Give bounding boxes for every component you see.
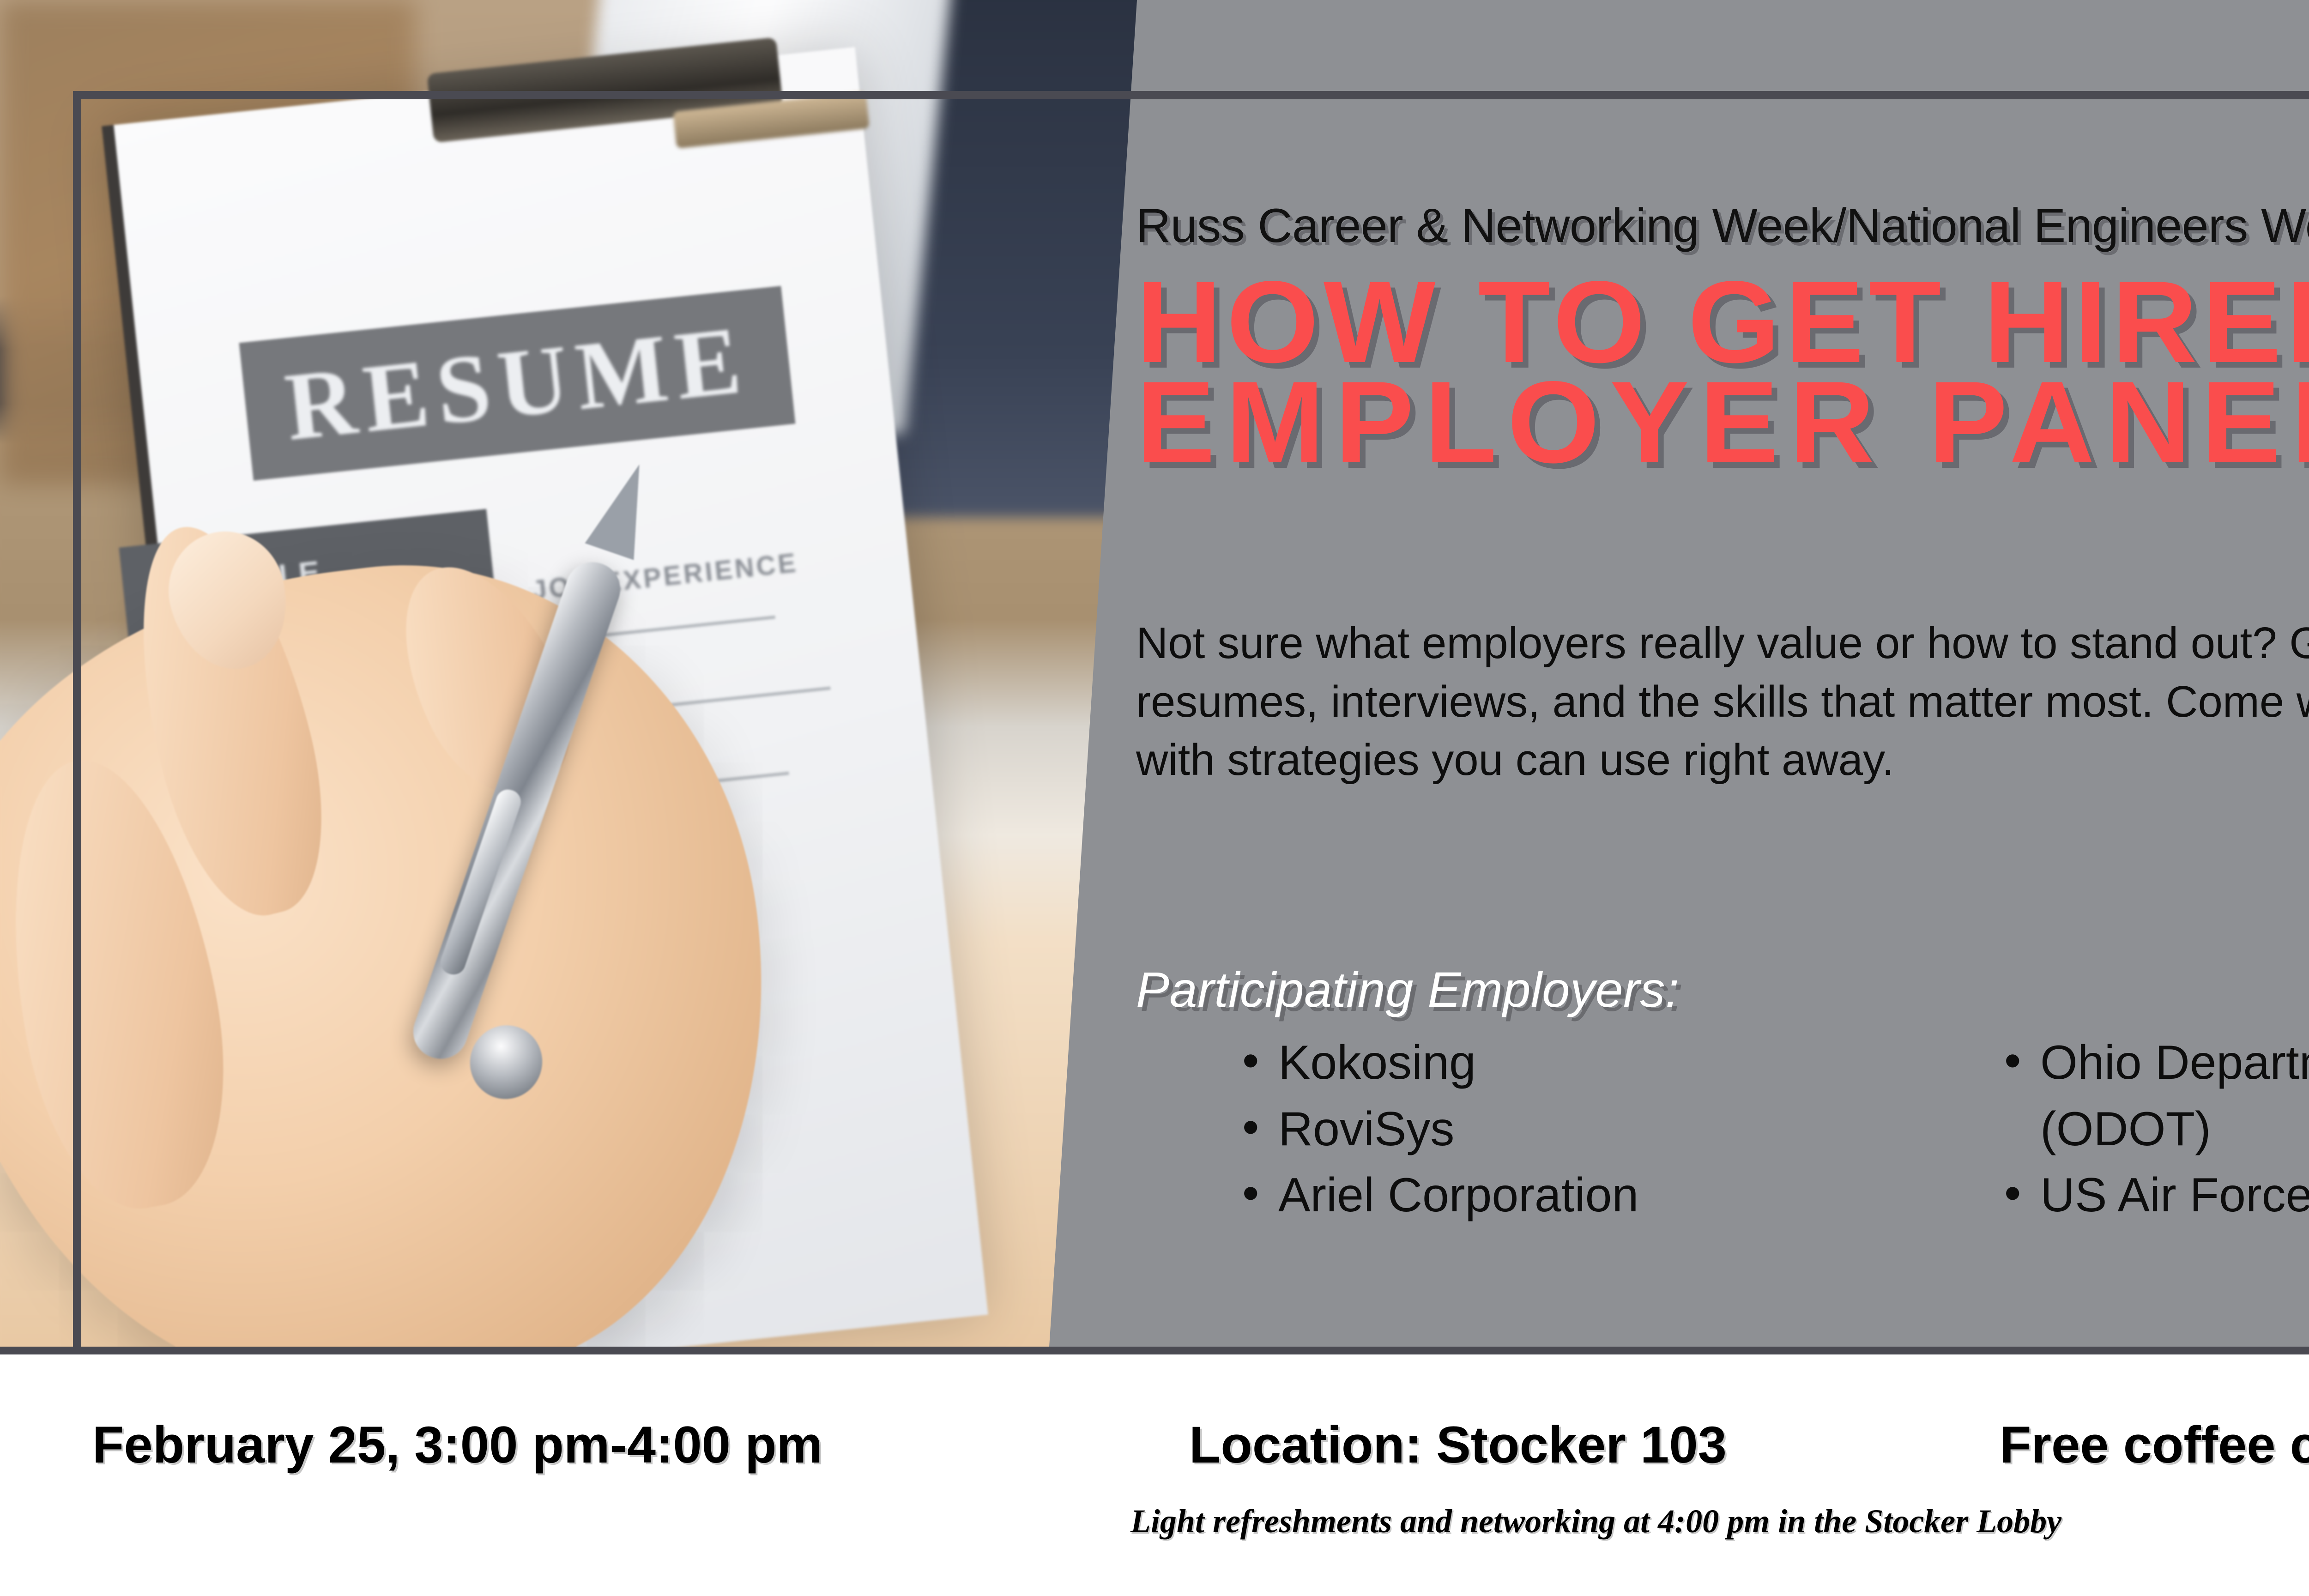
event-footnote: Light refreshments and networking at 4:0…: [0, 1502, 2309, 1541]
list-item: US Air Force: [2000, 1162, 2309, 1229]
participating-employers-title: Participating Employers:: [1136, 961, 1679, 1018]
page-title: HOW TO GET HIRED: EMPLOYER PANEL: [1136, 272, 2309, 472]
divider-bar: [0, 1347, 2309, 1354]
footer-details-row: February 25, 3:00 pm-4:00 pm Location: S…: [0, 1410, 2309, 1479]
headline-line-2: EMPLOYER PANEL: [1136, 373, 2309, 473]
list-item: Kokosing: [1238, 1030, 1907, 1096]
employers-column-left: Kokosing RoviSys Ariel Corporation: [1238, 1030, 1907, 1229]
event-location: Location: Stocker 103: [1189, 1415, 1727, 1475]
employers-column-right: Ohio Department of Transportation (ODOT)…: [2000, 1030, 2309, 1229]
event-series-eyebrow: Russ Career & Networking Week/National E…: [1136, 199, 2309, 254]
event-perk: Free coffee cards for the first 30 stude…: [2000, 1415, 2309, 1475]
employers-lists: Kokosing RoviSys Ariel Corporation Ohio …: [1136, 1030, 2309, 1229]
event-datetime: February 25, 3:00 pm-4:00 pm: [92, 1415, 822, 1475]
poster-content: Russ Career & Networking Week/National E…: [1136, 0, 2309, 1347]
event-description: Not sure what employers really value or …: [1136, 614, 2309, 790]
footer-bar: February 25, 3:00 pm-4:00 pm Location: S…: [0, 1354, 2309, 1596]
list-item: RoviSys: [1238, 1096, 1907, 1163]
list-item: Ohio Department of Transportation (ODOT): [2000, 1030, 2309, 1162]
list-item: Ariel Corporation: [1238, 1162, 1907, 1229]
poster-canvas: PROFILE RESUME PROFILE Name Date of Birt…: [0, 0, 2309, 1596]
